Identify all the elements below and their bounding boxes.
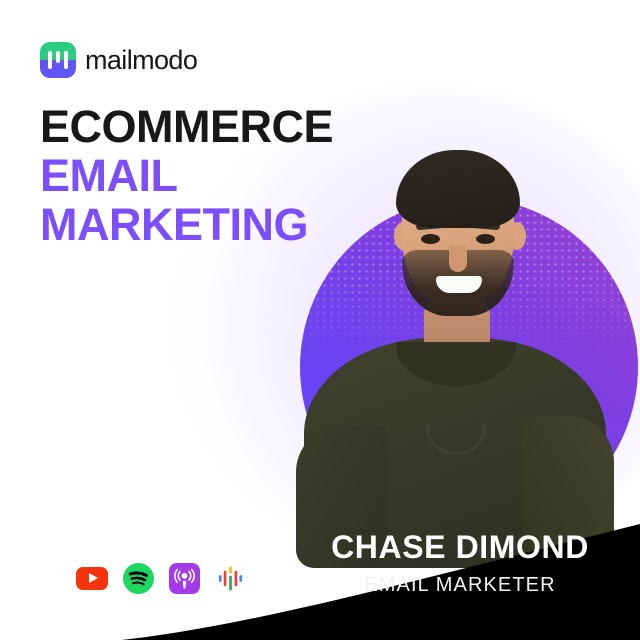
portrait-eye-right [476, 234, 495, 244]
headline-line-3: MARKETING [40, 202, 333, 248]
brand-wordmark: mailmodo [85, 45, 197, 76]
spotify-icon[interactable] [122, 562, 154, 594]
wave-divider [0, 380, 640, 640]
headline-line-1: ECOMMERCE [40, 104, 333, 150]
portrait-eye-left [421, 234, 440, 244]
google-podcasts-icon[interactable] [214, 562, 246, 594]
speaker-name: CHASE DIMOND [300, 530, 620, 565]
podcast-promo-poster: mailmodo ECOMMERCE EMAIL MARKETING CHASE… [0, 0, 640, 640]
portrait-hair [396, 150, 520, 228]
page-title: ECOMMERCE EMAIL MARKETING [40, 104, 333, 251]
social-platform-list [76, 562, 246, 594]
portrait-smile [436, 276, 482, 293]
youtube-icon[interactable] [76, 562, 108, 594]
portrait-nose [449, 246, 467, 272]
brand-logo[interactable]: mailmodo [40, 42, 197, 78]
mailmodo-logo-icon [40, 42, 76, 78]
speaker-role: EMAIL MARKETER [300, 574, 620, 596]
headline-line-2: EMAIL [40, 153, 333, 199]
apple-podcasts-icon[interactable] [168, 562, 200, 594]
speaker-block: CHASE DIMOND EMAIL MARKETER [300, 530, 620, 596]
